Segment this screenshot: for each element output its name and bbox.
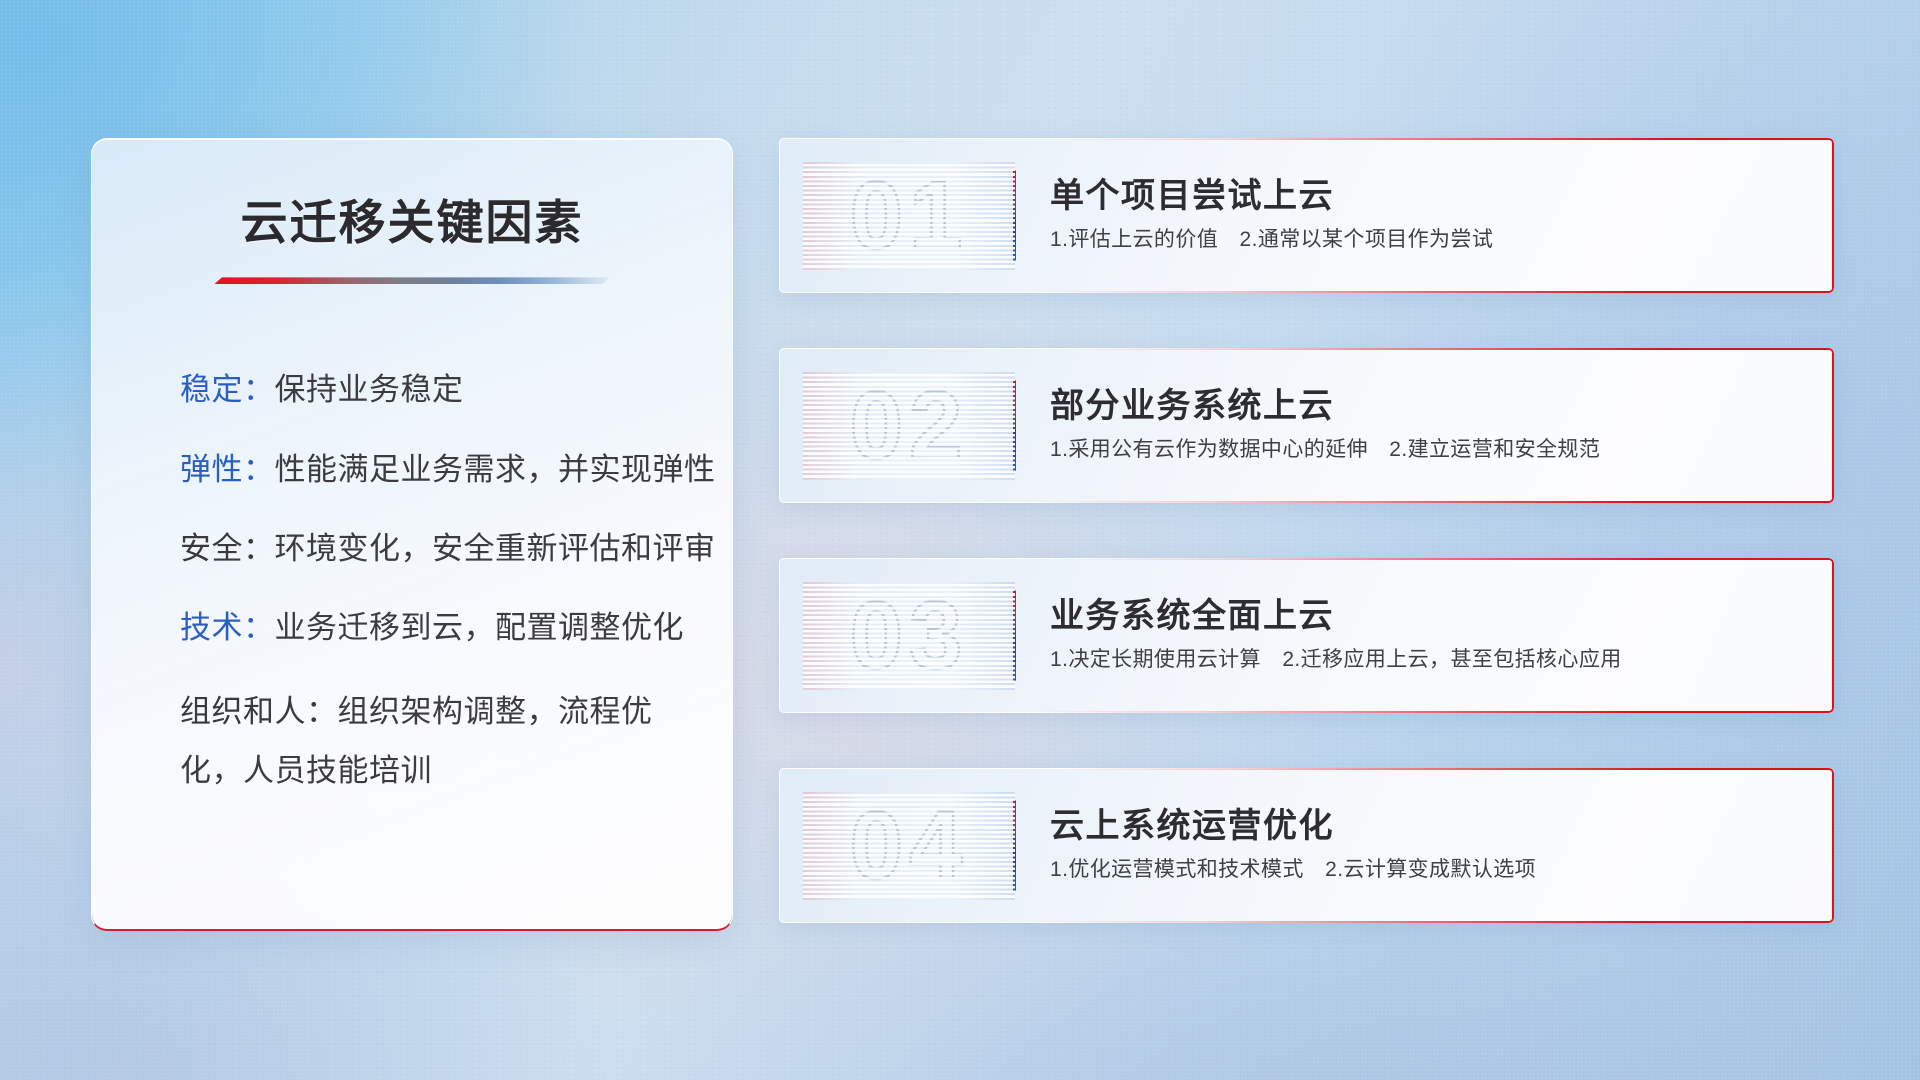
title-underline-gradient [214, 277, 610, 284]
step-divider [1013, 380, 1016, 471]
list-item[interactable]: 03 业务系统全面上云 1.决定长期使用云计算 2.迁移应用上云，甚至包括核心应… [779, 558, 1834, 713]
factor-label: 组织和人： [180, 694, 338, 729]
factor-label: 弹性： [180, 452, 275, 487]
list-item: 弹性：性能满足业务需求，并实现弹性 [180, 446, 680, 493]
step-divider [1013, 800, 1016, 891]
step-description: 1.采用公有云作为数据中心的延伸 2.建立运营和安全规范 [1050, 437, 1808, 463]
step-description: 1.评估上云的价值 2.通常以某个项目作为尝试 [1050, 227, 1808, 253]
step-number-tint [803, 372, 1015, 480]
step-card-body: 04 云上系统运营优化 1.优化运营模式和技术模式 2.云计算变成默认选项 [779, 768, 1834, 923]
factor-text: 环境变化，安全重新评估和评审 [275, 531, 716, 566]
step-divider [1013, 590, 1016, 681]
step-number: 01 [809, 168, 1009, 264]
step-text-block: 单个项目尝试上云 1.评估上云的价值 2.通常以某个项目作为尝试 [1050, 178, 1834, 254]
step-card-body: 03 业务系统全面上云 1.决定长期使用云计算 2.迁移应用上云，甚至包括核心应… [779, 558, 1834, 713]
step-number: 02 [809, 378, 1009, 474]
step-number: 03 [809, 588, 1009, 684]
step-title: 单个项目尝试上云 [1050, 178, 1808, 215]
step-number-tint [803, 162, 1015, 270]
factor-text: 业务迁移到云，配置调整优化 [275, 610, 685, 645]
factor-text: 性能满足业务需求，并实现弹性 [275, 452, 716, 487]
list-item[interactable]: 02 部分业务系统上云 1.采用公有云作为数据中心的延伸 2.建立运营和安全规范 [779, 348, 1834, 503]
list-item: 安全：环境变化，安全重新评估和评审 [180, 525, 680, 572]
list-item: 技术：业务迁移到云，配置调整优化 [180, 604, 680, 651]
migration-steps-list: 01 单个项目尝试上云 1.评估上云的价值 2.通常以某个项目作为尝试 02 部… [779, 138, 1834, 978]
step-number-tint [803, 792, 1015, 900]
key-factors-panel-inner: 云迁移关键因素 稳定：保持业务稳定 弹性：性能满足业务需求，并实现弹性 安全：环… [92, 139, 732, 801]
key-factors-list: 稳定：保持业务稳定 弹性：性能满足业务需求，并实现弹性 安全：环境变化，安全重新… [144, 366, 680, 800]
list-item: 组织和人：组织架构调整，流程优化，人员技能培训 [180, 683, 680, 801]
factor-label: 安全： [180, 531, 275, 566]
step-text-block: 部分业务系统上云 1.采用公有云作为数据中心的延伸 2.建立运营和安全规范 [1050, 388, 1834, 464]
factor-label: 技术： [180, 610, 275, 645]
step-title: 业务系统全面上云 [1050, 598, 1808, 635]
step-description: 1.优化运营模式和技术模式 2.云计算变成默认选项 [1050, 857, 1808, 883]
step-text-block: 云上系统运营优化 1.优化运营模式和技术模式 2.云计算变成默认选项 [1050, 808, 1834, 884]
step-card-body: 02 部分业务系统上云 1.采用公有云作为数据中心的延伸 2.建立运营和安全规范 [779, 348, 1834, 503]
list-item[interactable]: 01 单个项目尝试上云 1.评估上云的价值 2.通常以某个项目作为尝试 [779, 138, 1834, 293]
factor-label: 稳定： [180, 372, 275, 407]
step-number: 04 [809, 798, 1009, 894]
step-text-block: 业务系统全面上云 1.决定长期使用云计算 2.迁移应用上云，甚至包括核心应用 [1050, 598, 1834, 674]
step-title: 云上系统运营优化 [1050, 808, 1808, 845]
step-card-body: 01 单个项目尝试上云 1.评估上云的价值 2.通常以某个项目作为尝试 [779, 138, 1834, 293]
list-item: 稳定：保持业务稳定 [180, 366, 680, 413]
factor-text: 保持业务稳定 [275, 372, 464, 407]
step-number-tint [803, 582, 1015, 690]
step-description: 1.决定长期使用云计算 2.迁移应用上云，甚至包括核心应用 [1050, 647, 1808, 673]
step-title: 部分业务系统上云 [1050, 388, 1808, 425]
list-item[interactable]: 04 云上系统运营优化 1.优化运营模式和技术模式 2.云计算变成默认选项 [779, 768, 1834, 923]
page-title: 云迁移关键因素 [144, 195, 680, 251]
step-divider [1013, 170, 1016, 261]
key-factors-panel: 云迁移关键因素 稳定：保持业务稳定 弹性：性能满足业务需求，并实现弹性 安全：环… [91, 138, 733, 931]
